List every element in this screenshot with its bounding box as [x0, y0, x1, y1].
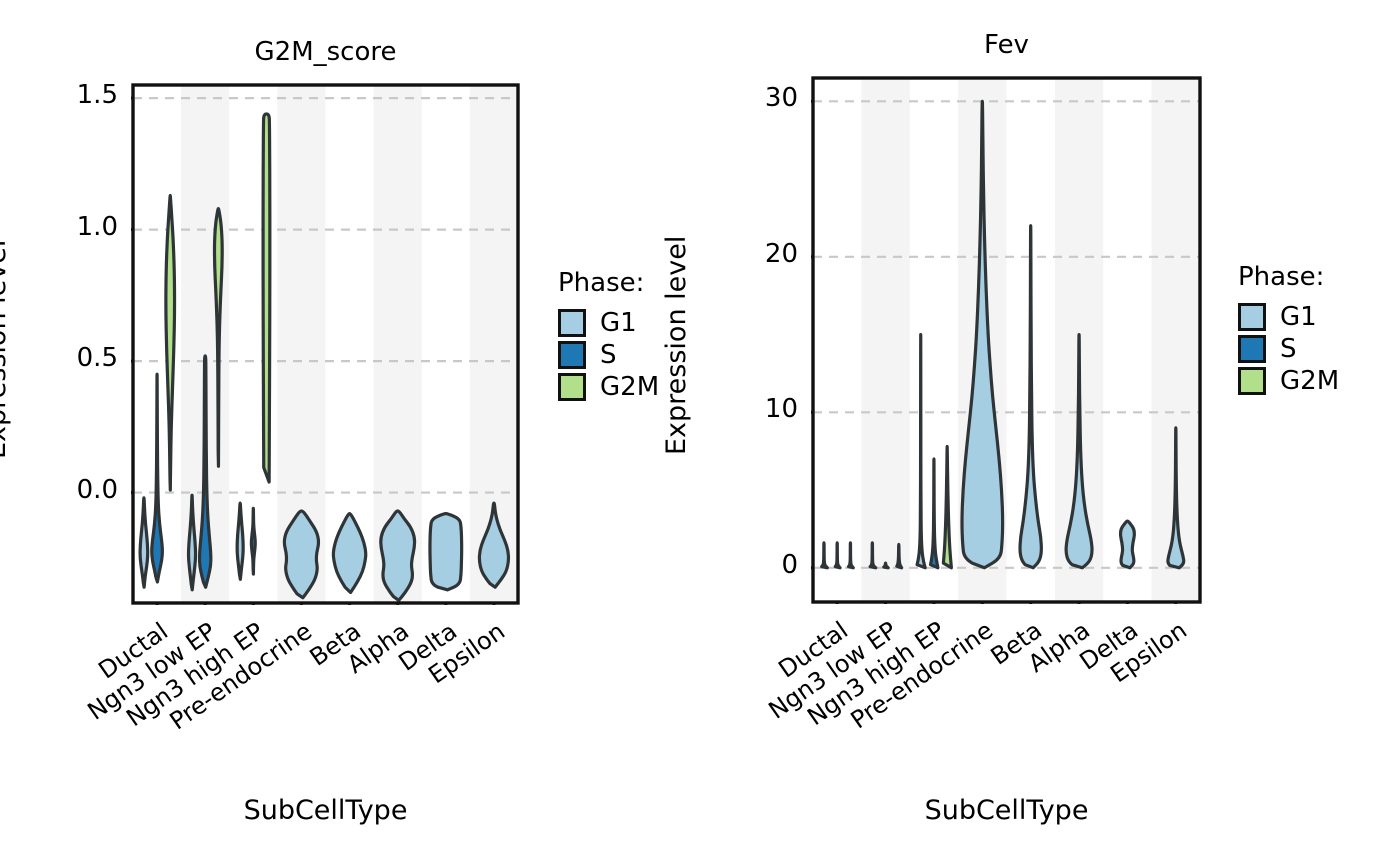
violin-plot-fev: [811, 76, 1202, 604]
violin-g2m: [263, 114, 270, 482]
legend-label: G1: [1280, 302, 1317, 332]
panel-title: Fev: [813, 30, 1200, 60]
legend-swatch-s: [558, 341, 586, 369]
violin-s: [251, 508, 255, 574]
y-tick-label: 1.5: [23, 80, 118, 110]
legend-label: S: [1280, 334, 1297, 364]
legend-item-g2m[interactable]: G2M: [1238, 366, 1339, 396]
legend-item-g1[interactable]: G1: [558, 308, 659, 338]
legend-panel-0: Phase: G1SG2M: [558, 268, 659, 404]
violin-g1: [430, 514, 462, 590]
legend-title: Phase:: [558, 268, 659, 298]
y-axis-label: Expression level: [0, 240, 12, 459]
y-tick-label: 20: [703, 239, 798, 269]
legend-label: G2M: [600, 372, 659, 402]
violin-g1: [237, 503, 243, 579]
legend-item-g1[interactable]: G1: [1238, 302, 1339, 332]
y-axis-label: Expression level: [661, 236, 692, 455]
legend-swatch-g2m: [1238, 367, 1266, 395]
legend-item-s[interactable]: S: [558, 340, 659, 370]
y-tick-label: 10: [703, 394, 798, 424]
legend-swatch-s: [1238, 335, 1266, 363]
panel-title: G2M_score: [133, 37, 518, 67]
legend-item-s[interactable]: S: [1238, 334, 1339, 364]
legend-swatch-g1: [1238, 303, 1266, 331]
legend-item-g2m[interactable]: G2M: [558, 372, 659, 402]
legend-swatch-g1: [558, 309, 586, 337]
y-tick-label: 0.0: [23, 475, 118, 505]
y-tick-label: 1.0: [23, 212, 118, 242]
violin-g1: [1121, 521, 1135, 568]
x-axis-label: SubCellType: [813, 795, 1200, 826]
violin-plot-g2m-score: [131, 83, 520, 605]
legend-swatch-g2m: [558, 373, 586, 401]
figure-root: G2M_score Expression level SubCellType 0…: [0, 0, 1400, 866]
legend-label: S: [600, 340, 617, 370]
y-tick-label: 30: [703, 83, 798, 113]
y-tick-label: 0.5: [23, 343, 118, 373]
violin-g1: [284, 511, 318, 598]
legend-panel-1: Phase: G1SG2M: [1238, 262, 1339, 398]
legend-title: Phase:: [1238, 262, 1339, 292]
legend-label: G2M: [1280, 366, 1339, 396]
legend-items: G1SG2M: [558, 308, 659, 402]
legend-items: G1SG2M: [1238, 302, 1339, 396]
category-stripe: [861, 78, 909, 602]
x-axis-label: SubCellType: [133, 795, 518, 826]
legend-label: G1: [600, 308, 637, 338]
y-tick-label: 0: [703, 550, 798, 580]
violin-g1: [381, 511, 415, 600]
